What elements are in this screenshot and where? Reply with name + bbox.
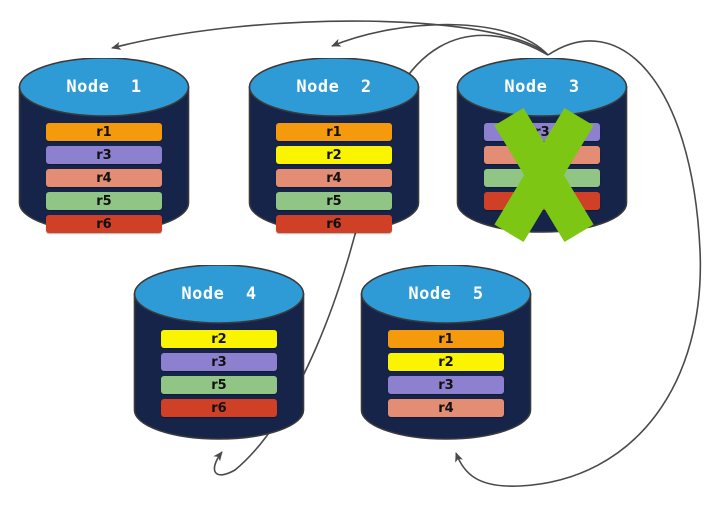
replica-bar-r5[interactable]: r5 <box>46 192 162 210</box>
replica-bar-r1[interactable]: r1 <box>46 123 162 141</box>
replica-label <box>484 192 600 210</box>
node-cylinder-4[interactable]: Node 4r2r3r5r6 <box>133 265 305 445</box>
arrow-node3-to-node1 <box>112 21 548 55</box>
replica-label: r3 <box>388 376 504 394</box>
replica-label: r1 <box>388 330 504 348</box>
replica-bar-r5[interactable]: r5 <box>276 192 392 210</box>
replica-label: r3 <box>484 123 600 141</box>
replica-label: r2 <box>388 353 504 371</box>
replica-label: r6 <box>276 215 392 233</box>
replica-bar-r1[interactable]: r1 <box>276 123 392 141</box>
cluster-replication-diagram: Node 1r1r3r4r5r6Node 2r1r2r4r5r6Node 3r3… <box>0 0 708 508</box>
node-cylinder-3[interactable]: Node 3r3 <box>456 58 628 238</box>
replica-bar-r2[interactable]: r2 <box>161 330 277 348</box>
replica-list: r2r3r5r6 <box>133 330 305 422</box>
replica-bar-r2[interactable]: r2 <box>276 146 392 164</box>
replica-label: r4 <box>276 169 392 187</box>
replica-bar-r3[interactable]: r3 <box>388 376 504 394</box>
node-cylinder-1[interactable]: Node 1r1r3r4r5r6 <box>18 58 190 238</box>
replica-bar-r3[interactable]: r3 <box>46 146 162 164</box>
replica-bar-r5[interactable]: r5 <box>161 376 277 394</box>
replica-bar-r4[interactable]: r4 <box>276 169 392 187</box>
replica-bar-r6[interactable] <box>484 192 600 210</box>
replica-bar-r3[interactable]: r3 <box>161 353 277 371</box>
replica-label: r4 <box>46 169 162 187</box>
replica-label: r3 <box>161 353 277 371</box>
replica-bar-r6[interactable]: r6 <box>276 215 392 233</box>
node-cylinder-2[interactable]: Node 2r1r2r4r5r6 <box>248 58 420 238</box>
replica-label <box>484 169 600 187</box>
replica-label: r1 <box>276 123 392 141</box>
replica-bar-r3[interactable]: r3 <box>484 123 600 141</box>
node-cylinder-5[interactable]: Node 5r1r2r3r4 <box>360 265 532 445</box>
replica-list: r3 <box>456 123 628 215</box>
replica-bar-r6[interactable]: r6 <box>46 215 162 233</box>
cylinder-top-disc <box>135 265 304 323</box>
replica-bar-r2[interactable]: r2 <box>388 353 504 371</box>
replica-label: r3 <box>46 146 162 164</box>
replica-label: r4 <box>388 399 504 417</box>
replica-list: r1r2r4r5r6 <box>248 123 420 238</box>
replica-label: r6 <box>161 399 277 417</box>
cylinder-top-disc <box>362 265 531 323</box>
replica-label: r5 <box>161 376 277 394</box>
replica-label: r2 <box>161 330 277 348</box>
replica-label: r6 <box>46 215 162 233</box>
cylinder-top-disc <box>20 58 189 116</box>
replica-label: r5 <box>46 192 162 210</box>
replica-bar-r6[interactable]: r6 <box>161 399 277 417</box>
replica-label: r2 <box>276 146 392 164</box>
replica-bar-r4[interactable] <box>484 146 600 164</box>
replica-list: r1r2r3r4 <box>360 330 532 422</box>
replica-list: r1r3r4r5r6 <box>18 123 190 238</box>
replica-label: r5 <box>276 192 392 210</box>
cylinder-top-disc <box>458 58 627 116</box>
cylinder-top-disc <box>250 58 419 116</box>
replica-label: r1 <box>46 123 162 141</box>
replica-bar-r1[interactable]: r1 <box>388 330 504 348</box>
replica-bar-r5[interactable] <box>484 169 600 187</box>
replica-label <box>484 146 600 164</box>
replica-bar-r4[interactable]: r4 <box>46 169 162 187</box>
replica-bar-r4[interactable]: r4 <box>388 399 504 417</box>
